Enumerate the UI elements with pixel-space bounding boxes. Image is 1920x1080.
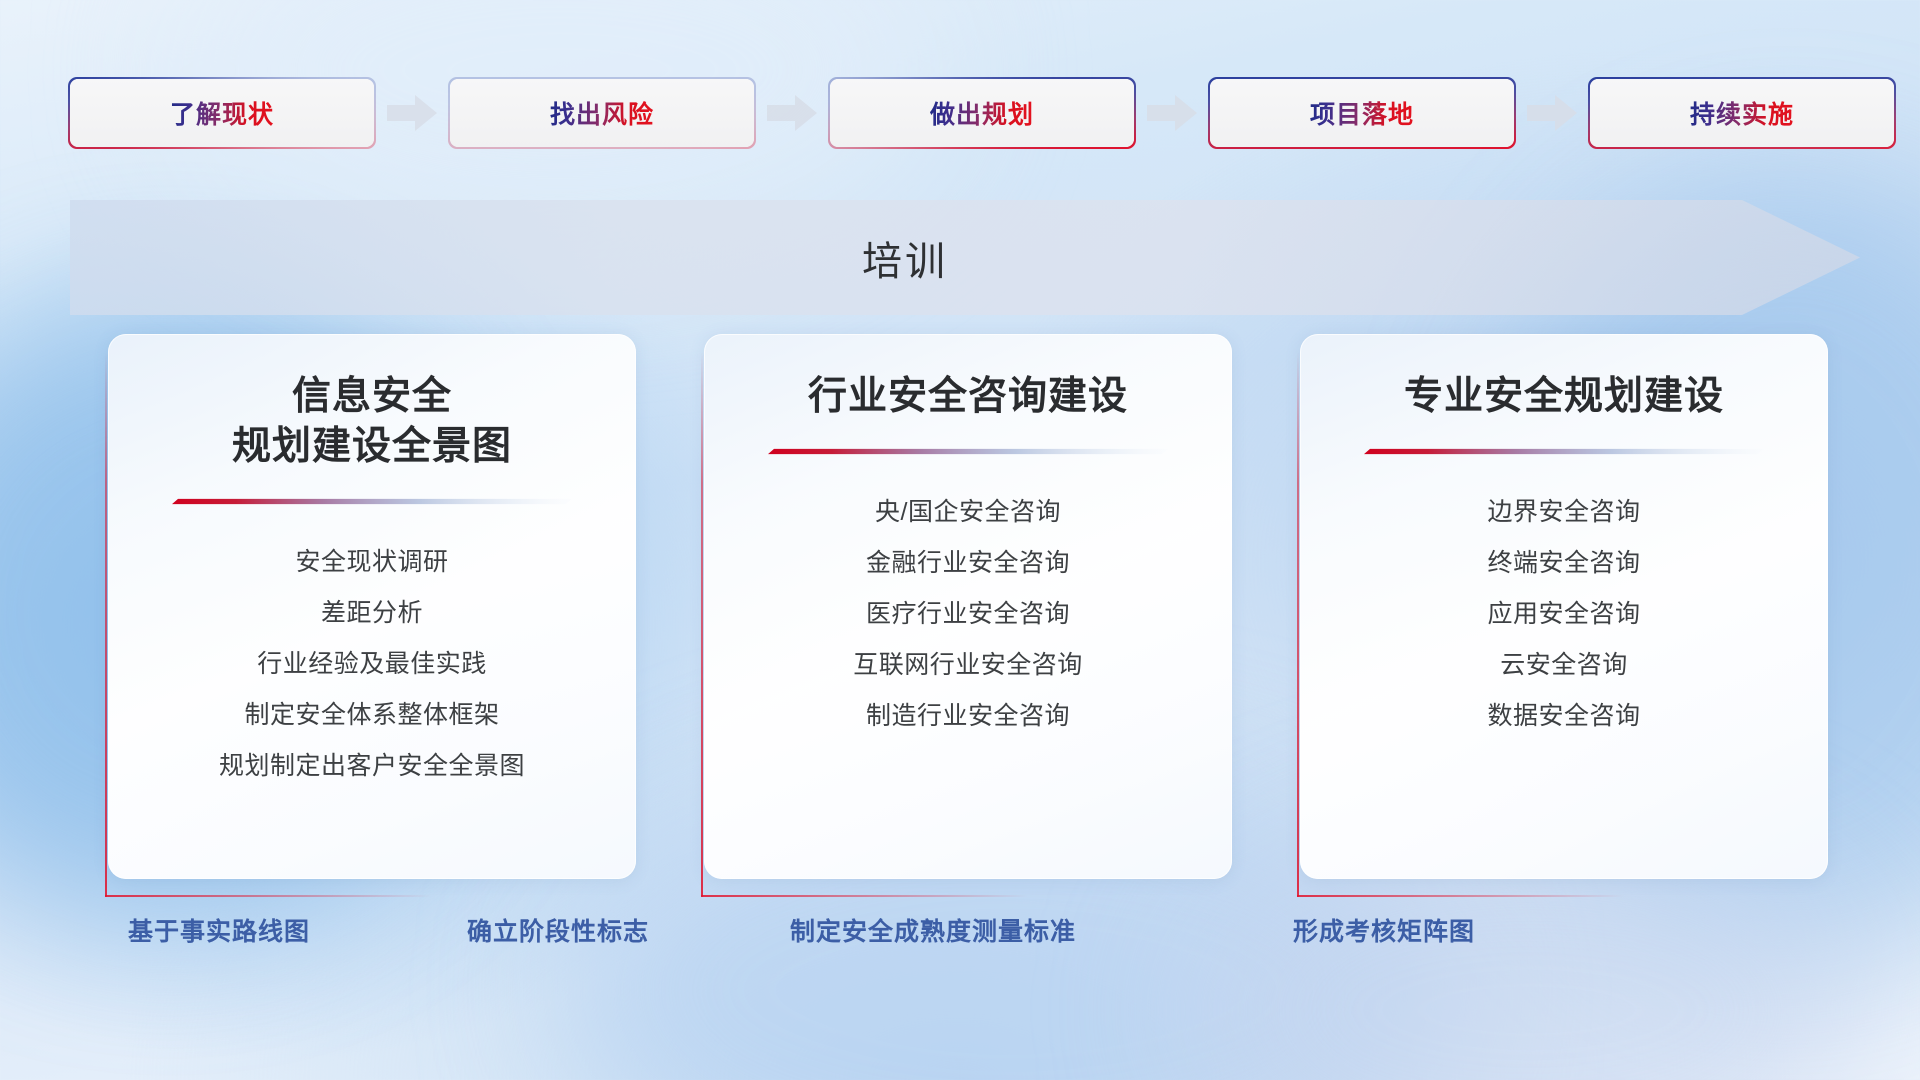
step-box-2[interactable]: 找出风险 bbox=[450, 79, 754, 147]
list-item[interactable]: 央/国企安全咨询 bbox=[730, 487, 1206, 538]
list-item[interactable]: 安全现状调研 bbox=[134, 537, 610, 588]
process-step-row: 了解现状找出风险做出规划项目落地持续实施 bbox=[70, 78, 1850, 148]
card-accent-edge bbox=[1297, 352, 1299, 897]
list-item[interactable]: 差距分析 bbox=[134, 588, 610, 639]
gradient-divider-icon bbox=[172, 498, 572, 505]
list-item[interactable]: 制定安全体系整体框架 bbox=[134, 690, 610, 741]
gradient-divider-icon bbox=[1364, 448, 1764, 455]
card-item-list: 安全现状调研差距分析行业经验及最佳实践制定安全体系整体框架规划制定出客户安全全景… bbox=[134, 537, 610, 792]
caption-3: 制定安全成熟度测量标准 bbox=[790, 912, 1076, 948]
card-3[interactable]: 专业安全规划建设边界安全咨询终端安全咨询应用安全咨询云安全咨询数据安全咨询 bbox=[1300, 334, 1828, 879]
arrow-right-icon bbox=[1522, 93, 1582, 133]
list-item[interactable]: 互联网行业安全咨询 bbox=[730, 640, 1206, 691]
caption-1: 基于事实路线图 bbox=[128, 912, 310, 948]
caption-4: 形成考核矩阵图 bbox=[1293, 912, 1475, 948]
list-item[interactable]: 边界安全咨询 bbox=[1326, 487, 1802, 538]
card-row: 信息安全 规划建设全景图安全现状调研差距分析行业经验及最佳实践制定安全体系整体框… bbox=[108, 334, 1828, 879]
card-accent-edge bbox=[701, 352, 703, 897]
card-title: 专业安全规划建设 bbox=[1404, 372, 1724, 422]
card-item-list: 央/国企安全咨询金融行业安全咨询医疗行业安全咨询互联网行业安全咨询制造行业安全咨… bbox=[730, 487, 1206, 742]
step-label: 项目落地 bbox=[1310, 95, 1414, 131]
step-label: 了解现状 bbox=[170, 95, 274, 131]
step-box-1[interactable]: 了解现状 bbox=[70, 79, 374, 147]
list-item[interactable]: 规划制定出客户安全全景图 bbox=[134, 741, 610, 792]
step-label: 找出风险 bbox=[550, 95, 654, 131]
step-label: 做出规划 bbox=[930, 95, 1034, 131]
arrow-right-icon bbox=[382, 93, 442, 133]
step-box-5[interactable]: 持续实施 bbox=[1590, 79, 1894, 147]
list-item[interactable]: 行业经验及最佳实践 bbox=[134, 639, 610, 690]
card-2[interactable]: 行业安全咨询建设央/国企安全咨询金融行业安全咨询医疗行业安全咨询互联网行业安全咨… bbox=[704, 334, 1232, 879]
card-title: 信息安全 规划建设全景图 bbox=[232, 372, 512, 472]
list-item[interactable]: 医疗行业安全咨询 bbox=[730, 589, 1206, 640]
card-body: 专业安全规划建设边界安全咨询终端安全咨询应用安全咨询云安全咨询数据安全咨询 bbox=[1300, 334, 1828, 879]
caption-row: 基于事实路线图确立阶段性标志制定安全成熟度测量标准形成考核矩阵图 bbox=[0, 912, 1920, 960]
step-box-3[interactable]: 做出规划 bbox=[830, 79, 1134, 147]
card-accent-edge-bottom bbox=[701, 895, 1028, 897]
card-title: 行业安全咨询建设 bbox=[808, 372, 1128, 422]
card-accent-edge-bottom bbox=[105, 895, 432, 897]
card-item-list: 边界安全咨询终端安全咨询应用安全咨询云安全咨询数据安全咨询 bbox=[1326, 487, 1802, 742]
card-body: 信息安全 规划建设全景图安全现状调研差距分析行业经验及最佳实践制定安全体系整体框… bbox=[108, 334, 636, 879]
list-item[interactable]: 金融行业安全咨询 bbox=[730, 538, 1206, 589]
arrow-right-icon bbox=[1142, 93, 1202, 133]
step-label: 持续实施 bbox=[1690, 95, 1794, 131]
caption-2: 确立阶段性标志 bbox=[467, 912, 649, 948]
list-item[interactable]: 应用安全咨询 bbox=[1326, 589, 1802, 640]
banner-label: 培训 bbox=[70, 200, 1740, 315]
card-accent-edge-bottom bbox=[1297, 895, 1624, 897]
step-box-4[interactable]: 项目落地 bbox=[1210, 79, 1514, 147]
card-body: 行业安全咨询建设央/国企安全咨询金融行业安全咨询医疗行业安全咨询互联网行业安全咨… bbox=[704, 334, 1232, 879]
list-item[interactable]: 终端安全咨询 bbox=[1326, 538, 1802, 589]
card-accent-edge bbox=[105, 352, 107, 897]
list-item[interactable]: 数据安全咨询 bbox=[1326, 691, 1802, 742]
list-item[interactable]: 制造行业安全咨询 bbox=[730, 691, 1206, 742]
training-banner: 培训 bbox=[70, 200, 1860, 315]
card-1[interactable]: 信息安全 规划建设全景图安全现状调研差距分析行业经验及最佳实践制定安全体系整体框… bbox=[108, 334, 636, 879]
gradient-divider-icon bbox=[768, 448, 1168, 455]
list-item[interactable]: 云安全咨询 bbox=[1326, 640, 1802, 691]
arrow-right-icon bbox=[762, 93, 822, 133]
